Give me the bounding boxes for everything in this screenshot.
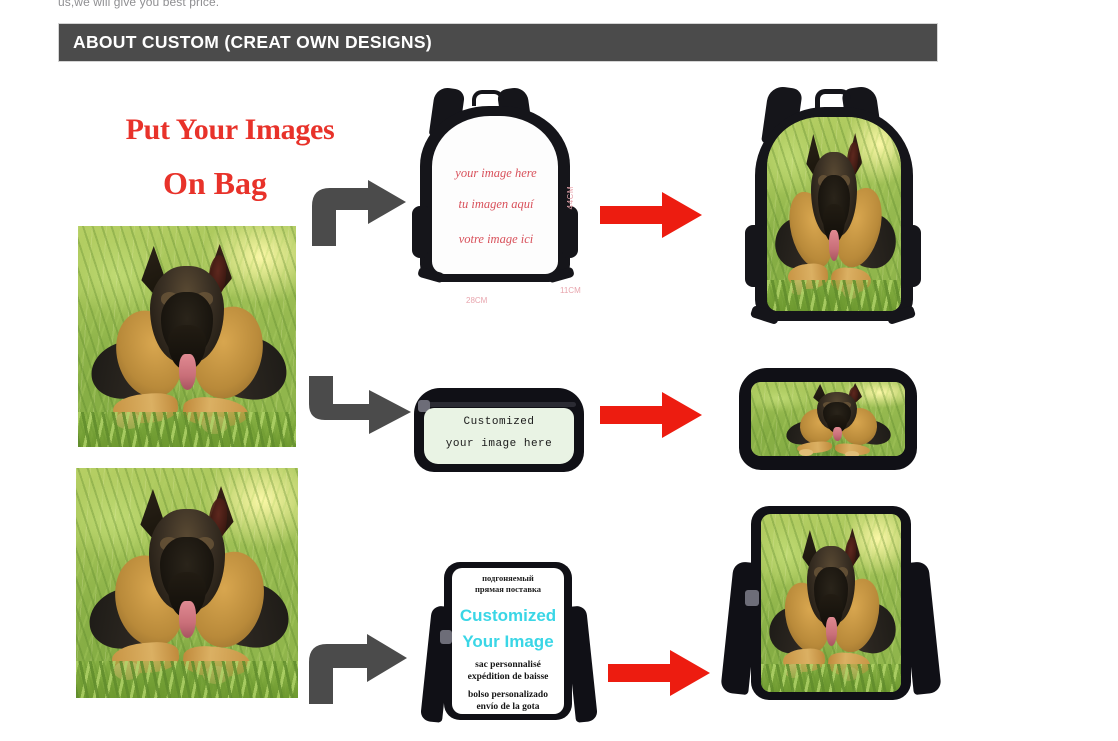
dog-figure <box>767 117 901 311</box>
backpack-depth-dimension: 11CM <box>560 286 581 295</box>
pencil-case-print-area <box>751 382 905 456</box>
messenger-highlight-line-1: Customized <box>450 606 566 626</box>
messenger-russian-line-1: подгоняемый <box>452 573 564 583</box>
messenger-print-area <box>761 514 901 692</box>
dog-figure <box>779 382 896 456</box>
backpack-side-pocket-right <box>903 225 921 287</box>
pencil-case-label-line-2: your image here <box>424 438 574 450</box>
backpack-side-pocket-left <box>745 225 763 287</box>
backpack-width-dimension: 28CM <box>466 296 487 305</box>
messenger-highlight-line-2: Your Image <box>450 632 566 652</box>
backpack-print-area <box>432 116 558 274</box>
pencil-case-zipper <box>422 402 576 407</box>
section-header-title: ABOUT CUSTOM (CREAT OWN DESIGNS) <box>73 32 432 53</box>
backpack-handle <box>472 90 504 106</box>
printed-messenger-bag <box>725 500 939 708</box>
dog-figure <box>76 468 298 698</box>
gray-elbow-arrow-messenger <box>303 634 413 704</box>
backpack-label-line-1: your image here <box>436 166 556 181</box>
backpack-print-area <box>767 117 901 311</box>
backpack-handle <box>815 89 851 108</box>
pencil-case-label-line-1: Customized <box>424 416 574 428</box>
blank-pencil-case: Customized your image here <box>414 388 584 472</box>
gray-elbow-arrow-backpack <box>306 180 410 246</box>
backpack-label-line-3: votre image ici <box>436 232 556 247</box>
backpack-side-pocket-right <box>562 206 578 258</box>
red-arrow-backpack <box>600 192 702 238</box>
messenger-french-line-1: sac personnalisé <box>452 660 564 670</box>
messenger-spanish-line-1: bolso personalizado <box>452 690 564 700</box>
messenger-french-line-2: expédition de baisse <box>452 672 564 682</box>
printed-pencil-case <box>739 368 917 470</box>
backpack-label-line-2: tu imagen aquí <box>436 197 556 212</box>
headline-put-your-images: Put Your Images <box>80 113 380 147</box>
dog-figure <box>78 226 296 447</box>
messenger-spanish-line-2: envío de la gota <box>452 702 564 712</box>
red-arrow-pencil-case <box>600 392 702 438</box>
blank-messenger-bag: подгоняемый прямая поставка Customized Y… <box>420 556 596 728</box>
backpack-side-pocket-left <box>412 206 428 258</box>
german-shepherd-photo-top <box>78 226 296 447</box>
section-header-bar: ABOUT CUSTOM (CREAT OWN DESIGNS) <box>58 23 938 62</box>
messenger-zipper-pull <box>745 590 759 606</box>
printed-backpack <box>733 85 931 347</box>
backpack-height-dimension: 44CM <box>566 186 575 209</box>
german-shepherd-photo-bottom <box>76 468 298 698</box>
messenger-russian-line-2: прямая поставка <box>452 584 564 594</box>
red-arrow-messenger <box>608 650 710 696</box>
blank-backpack: your image here tu imagen aquí votre ima… <box>404 84 590 306</box>
dog-figure <box>761 514 901 692</box>
gray-elbow-arrow-pencil-case <box>303 376 415 434</box>
truncated-top-text: us,we will give you best price. <box>58 0 458 9</box>
